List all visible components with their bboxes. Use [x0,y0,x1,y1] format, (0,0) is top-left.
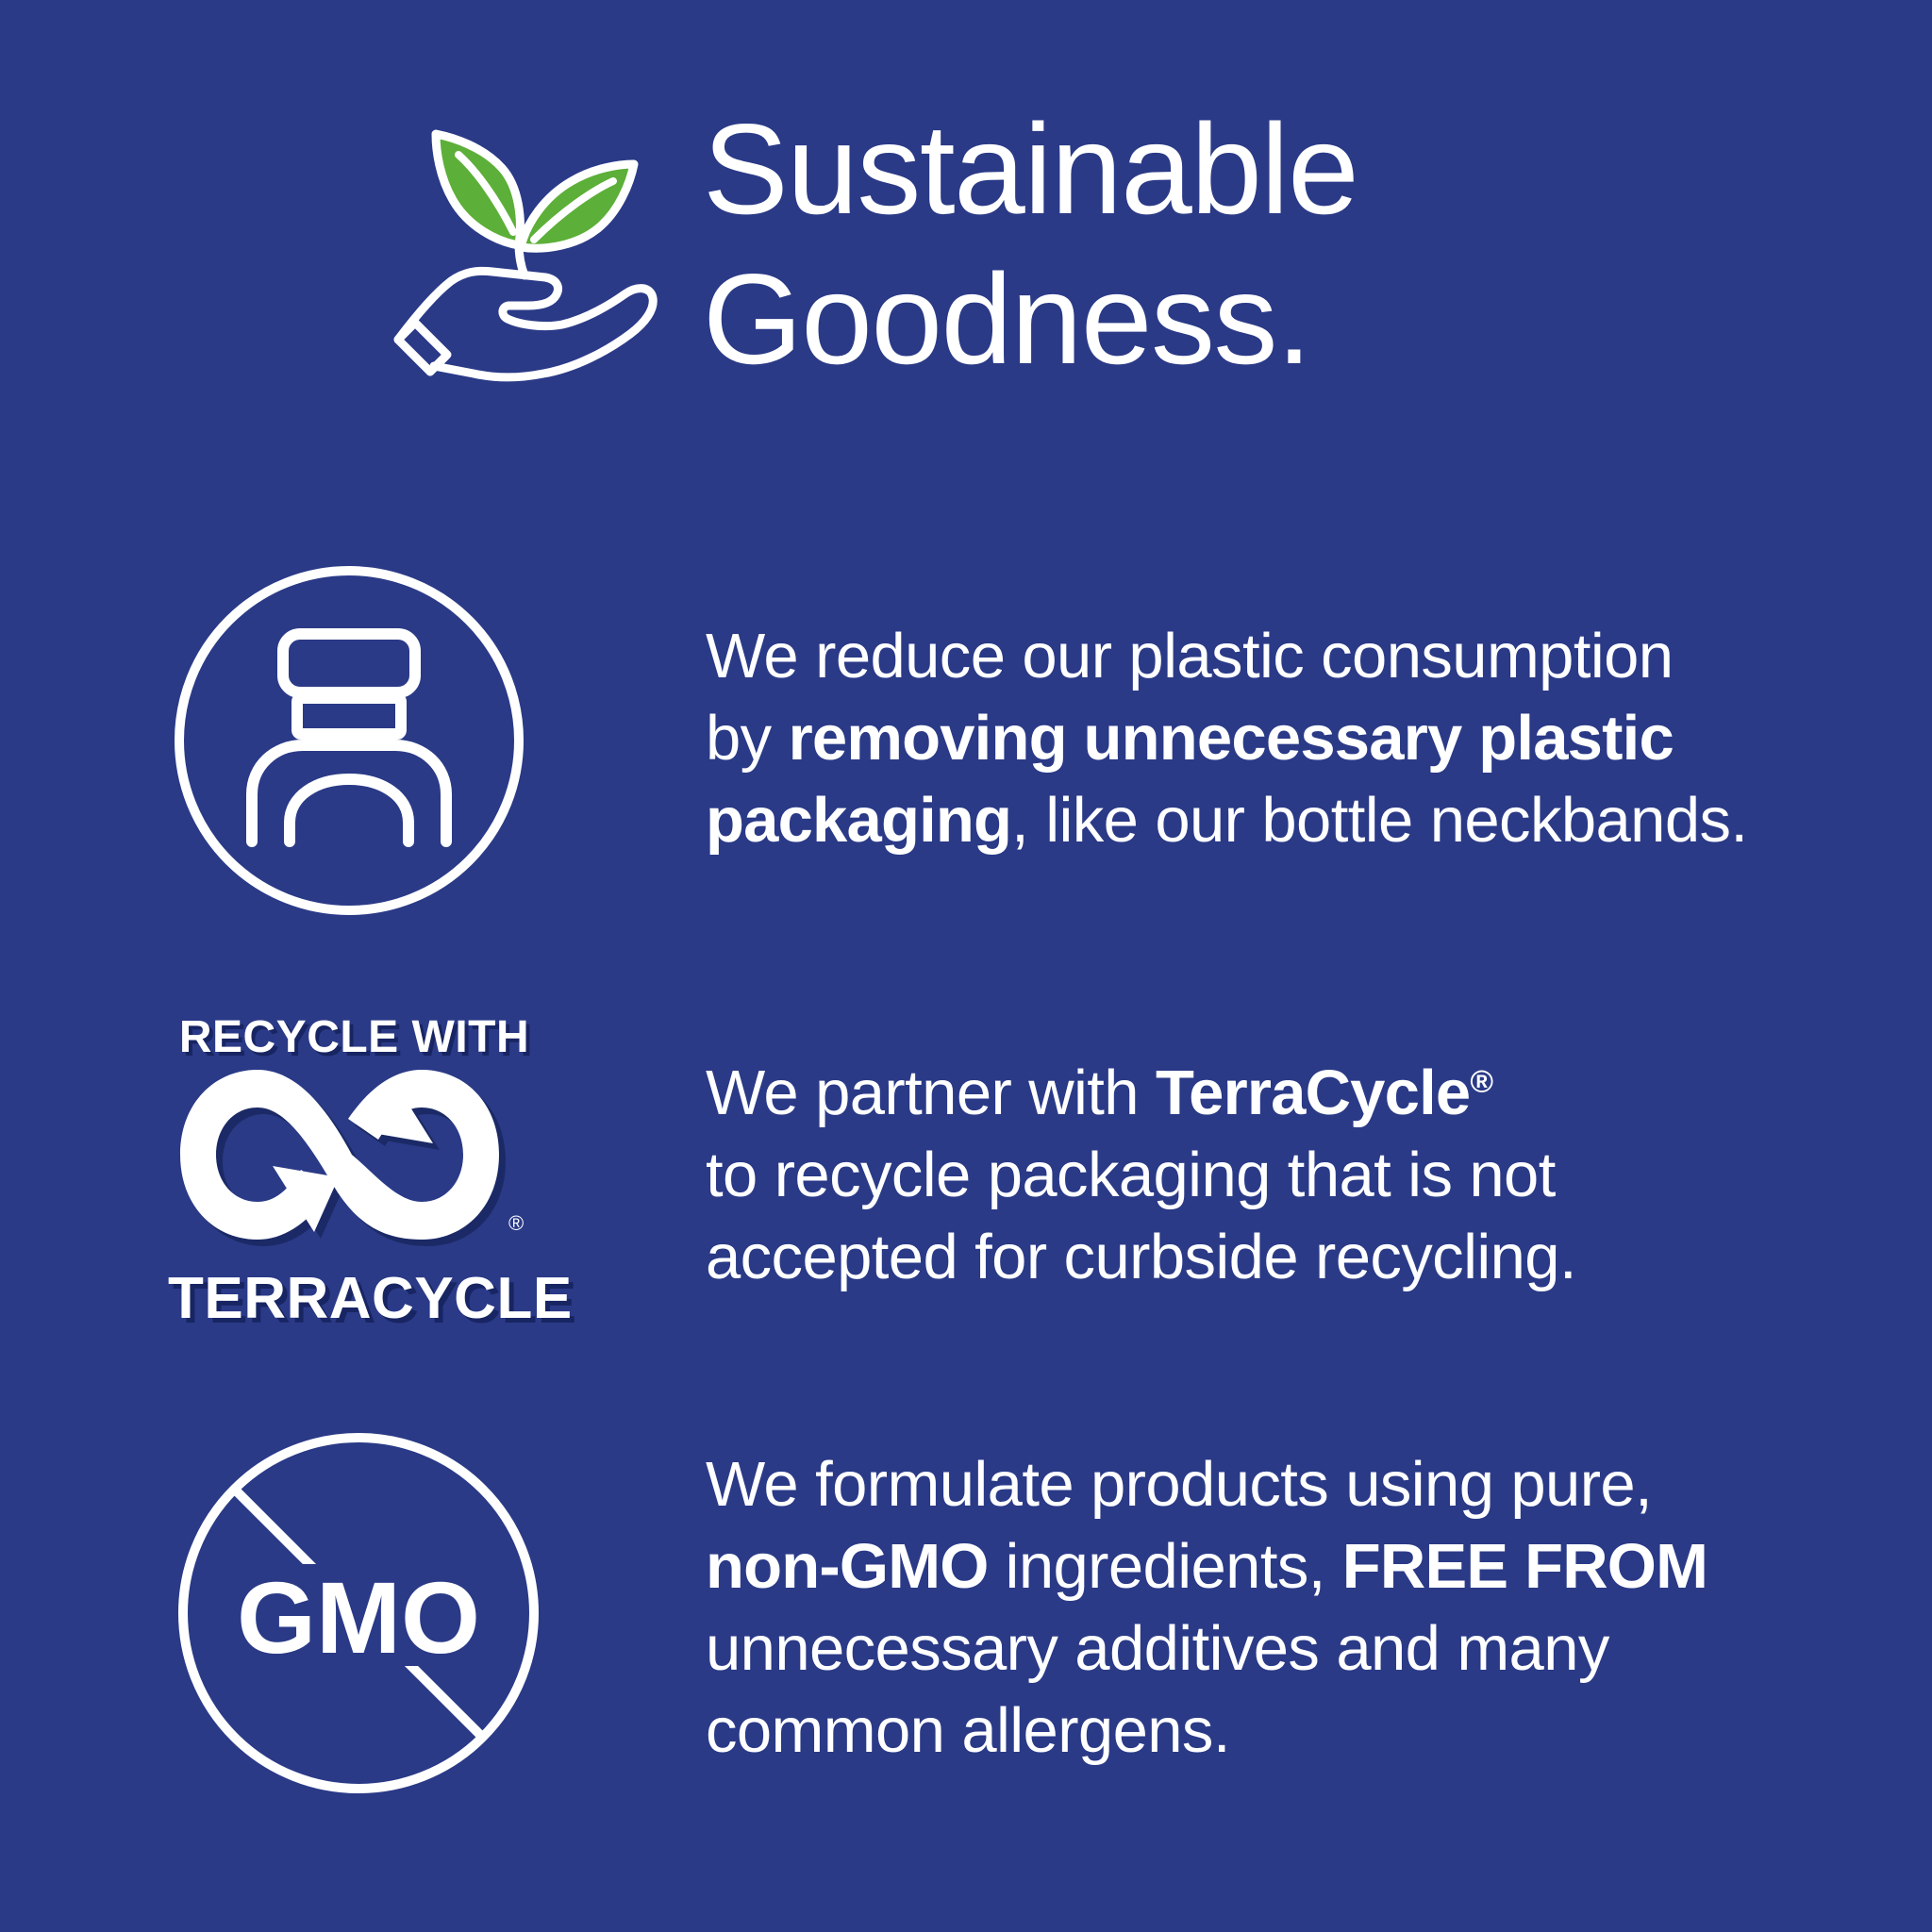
gmo-label: GMO [237,1560,480,1674]
text-run: We formulate products using pure, [706,1449,1652,1520]
hand-holding-sprout-icon [377,102,660,385]
benefit-text-line: accepted for curbside recycling. [706,1216,1904,1298]
terracycle-logo: RECYCLE WITH [168,1011,541,1332]
page-title-line-2: Goodness. [703,244,1693,394]
bottle-in-circle-icon [165,557,533,924]
text-run-bold: packaging [706,785,1011,856]
text-run: , like our bottle neckbands. [1011,785,1747,856]
text-run-bold: TerraCycle [1156,1058,1470,1128]
terracycle-top-label: RECYCLE WITH [168,1011,541,1063]
text-run-bold: FREE FROM [1342,1531,1707,1602]
text-run: accepted for curbside recycling. [706,1222,1576,1292]
infinity-arrows-icon: ® [168,1060,541,1249]
benefit-text-terracycle: We partner with TerraCycle® to recycle p… [706,1052,1904,1298]
benefit-text-line: common allergens. [706,1690,1904,1772]
text-run: ingredients, [989,1531,1342,1602]
registered-mark: ® [1470,1065,1492,1100]
text-run: common allergens. [706,1695,1230,1766]
registered-mark: ® [508,1211,524,1235]
terracycle-badge: RECYCLE WITH [168,1011,541,1332]
terracycle-bottom-label: TERRACYCLE [168,1265,541,1332]
text-run-bold: non-GMO [706,1531,989,1602]
text-run-bold: removing unnecessary plastic [789,703,1674,774]
benefit-text-line: We formulate products using pure, [706,1443,1904,1525]
benefit-text-line: unnecessary additives and many [706,1607,1904,1690]
benefit-text-plastic: We reduce our plastic consumption by rem… [706,615,1904,861]
benefit-text-line: by removing unnecessary plastic [706,697,1904,779]
header: Sustainable Goodness. [377,94,1698,406]
page-title-line-1: Sustainable [703,94,1693,244]
text-run: We reduce our plastic consumption [706,621,1673,691]
text-run: We partner with [706,1058,1156,1128]
benefit-text-line: non-GMO ingredients, FREE FROM [706,1525,1904,1607]
benefit-text-line: packaging, like our bottle neckbands. [706,779,1904,861]
text-run: unnecessary additives and many [706,1613,1609,1684]
text-run: to recycle packaging that is not [706,1140,1556,1210]
benefit-text-line: We reduce our plastic consumption [706,615,1904,697]
page-title: Sustainable Goodness. [703,94,1693,394]
text-run: by [706,703,789,774]
benefit-text-line: We partner with TerraCycle® [706,1052,1904,1134]
no-gmo-icon: GMO [170,1424,547,1802]
sustainable-goodness-infographic: Sustainable Goodness. We reduce our plas… [0,0,1932,1932]
benefit-text-line: to recycle packaging that is not [706,1134,1904,1216]
benefit-text-gmo: We formulate products using pure, non-GM… [706,1443,1904,1772]
